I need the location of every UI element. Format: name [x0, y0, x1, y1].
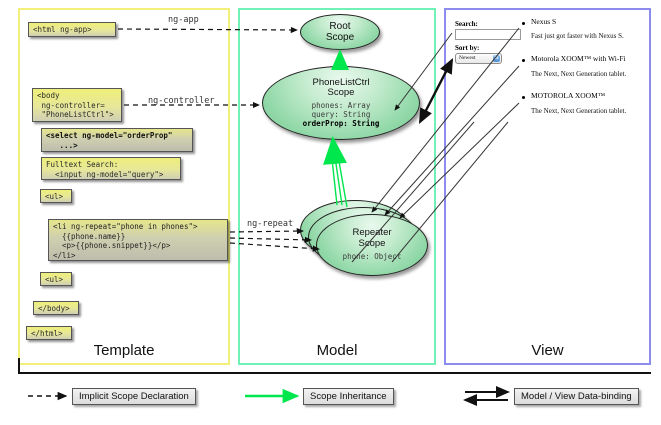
code-box-html: <html ng-app>	[28, 22, 116, 37]
chevron-updown-icon: ⇅	[493, 55, 500, 62]
code-box-select: <select ng-model="orderProp" ...>	[41, 128, 193, 152]
scope-prop-phone: phone: Object	[343, 253, 402, 262]
legend-rule	[18, 372, 651, 374]
code-box-ul-open: <ul>	[40, 189, 72, 203]
phone-name[interactable]: MOTOROLA XOOM™	[531, 91, 605, 100]
scope-phonelistctrl-title: PhoneListCtrl Scope	[312, 78, 369, 99]
scope-root: Root Scope	[300, 14, 380, 50]
legend-item-scope-inheritance: Scope Inheritance	[303, 388, 394, 405]
scope-repeater-title: Repeater Scope	[352, 228, 391, 249]
code-box-li-repeat: <li ng-repeat="phone in phones"> {{phone…	[48, 219, 228, 261]
list-bullet-icon	[522, 96, 525, 99]
panel-model-label: Model	[240, 342, 434, 359]
phone-name[interactable]: Nexus S	[531, 17, 556, 26]
code-box-fulltext-search: Fulltext Search: <input ng-model="query"…	[41, 157, 181, 180]
scope-phonelistctrl: PhoneListCtrl Scope phones: Array query:…	[262, 66, 420, 140]
panel-view-label: View	[446, 342, 649, 359]
phone-snippet: Fast just got faster with Nexus S.	[531, 32, 624, 40]
phone-snippet: The Next, Next Generation tablet.	[531, 70, 626, 78]
search-label: Search:	[455, 20, 478, 28]
sort-by-select[interactable]: Newest ⇅	[455, 53, 502, 64]
sort-by-select-value: Newest	[459, 54, 476, 63]
legend-item-model-view-data-binding: Model / View Data-binding	[514, 388, 639, 405]
diagram-canvas: Template Model View <html ng-app> <body …	[0, 0, 661, 425]
legend-item-implicit-scope-declaration: Implicit Scope Declaration	[72, 388, 196, 405]
phone-name[interactable]: Motorola XOOM™ with Wi-Fi	[531, 54, 626, 63]
panel-template-label: Template	[20, 342, 228, 359]
scope-prop-orderprop: orderProp: String	[303, 120, 380, 129]
code-box-ul-close: <ul>	[40, 272, 72, 286]
panel-model: Model	[238, 8, 436, 365]
scope-root-title: Root Scope	[326, 21, 354, 43]
sort-by-label: Sort by:	[455, 44, 479, 52]
search-input[interactable]	[455, 29, 521, 40]
list-bullet-icon	[522, 59, 525, 62]
code-box-body-close: </body>	[33, 301, 79, 315]
code-box-body: <body ng-controller= "PhoneListCtrl">	[32, 88, 122, 122]
edge-label-ng-repeat: ng-repeat	[247, 219, 293, 229]
list-bullet-icon	[522, 22, 525, 25]
code-box-html-close: </html>	[26, 326, 72, 340]
phone-snippet: The Next, Next Generation tablet.	[531, 107, 626, 115]
legend-arrow-databinding	[465, 392, 508, 400]
edge-label-ng-app: ng-app	[168, 15, 199, 25]
edge-label-ng-controller: ng-controller	[148, 96, 215, 106]
scope-repeater: Repeater Scope phone: Object	[316, 214, 428, 276]
